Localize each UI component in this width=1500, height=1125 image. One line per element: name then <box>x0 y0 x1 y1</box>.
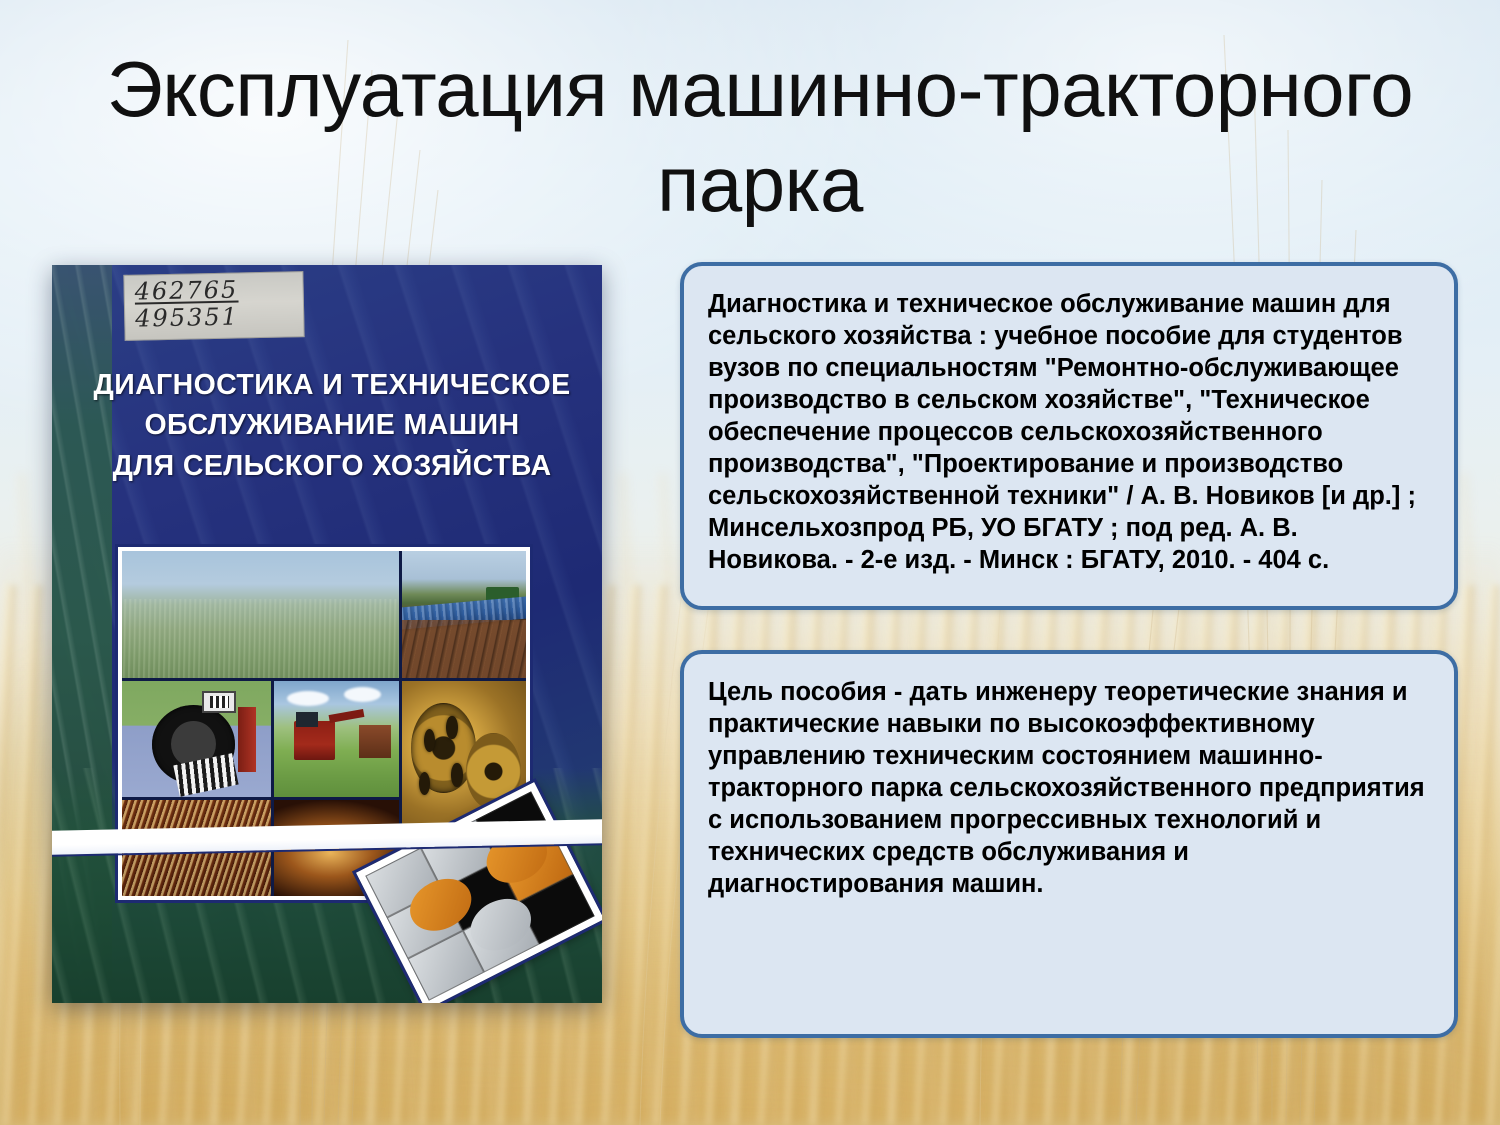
book-cover-image: 462765 495351 ДИАГНОСТИКА И ТЕХНИЧЕСКОЕ … <box>52 265 602 1003</box>
cloud-shape <box>287 691 329 706</box>
bracket-shape <box>238 707 256 772</box>
gear-bolt <box>446 716 457 740</box>
harvester-shape <box>294 721 335 760</box>
gear-bolt <box>419 772 430 796</box>
sensor-shape <box>202 691 236 714</box>
photo-field <box>122 551 399 678</box>
purpose-description-callout: Цель пособия - дать инженеру теоретическ… <box>680 650 1458 1038</box>
stamp-line-1: 462765 <box>134 275 295 305</box>
gear-bolt <box>479 750 490 774</box>
trailer-shape <box>359 725 391 757</box>
photo-wheel-diagnostics <box>122 681 271 797</box>
spout-shape <box>328 709 364 723</box>
library-accession-stamp: 462765 495351 <box>123 271 304 341</box>
cloud-shape-2 <box>344 687 381 702</box>
soil-texture <box>402 620 526 679</box>
book-cover-title: ДИАГНОСТИКА И ТЕХНИЧЕСКОЕ ОБСЛУЖИВАНИЕ М… <box>82 365 582 486</box>
slide-title: Эксплуатация машинно-тракторного парка <box>100 42 1420 232</box>
bibliographic-record-callout: Диагностика и техническое обслуживание м… <box>680 262 1458 610</box>
stamp-line-2: 495351 <box>135 302 296 332</box>
gear-bolt <box>424 729 435 753</box>
gear-bolt <box>451 763 462 787</box>
photo-forage-harvester <box>274 681 398 797</box>
cab-shape <box>296 712 317 727</box>
presentation-slide: Эксплуатация машинно-тракторного парка 4… <box>0 0 1500 1125</box>
photo-plough <box>402 551 526 678</box>
